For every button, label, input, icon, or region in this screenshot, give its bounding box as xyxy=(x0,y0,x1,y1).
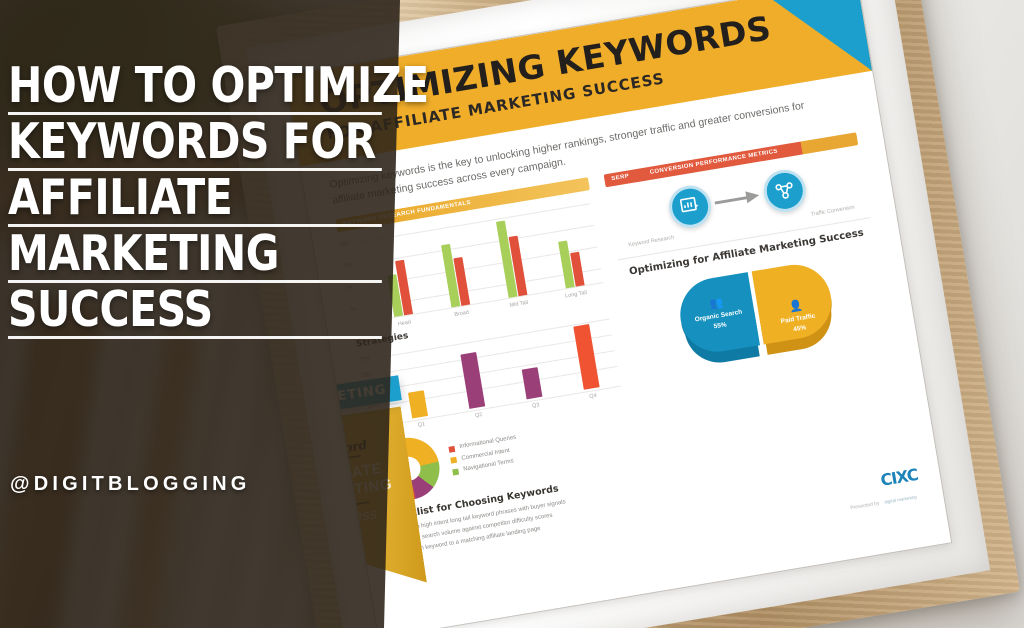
chart-presentation-icon xyxy=(666,182,714,230)
pie-right-value: 45% xyxy=(793,324,807,333)
headline-line-3: AFFILIATE xyxy=(8,174,382,227)
brand-tagline: digital marketing xyxy=(884,494,917,504)
bar-group: Broad xyxy=(438,225,470,307)
x-tick-label: Broad xyxy=(454,309,469,317)
legend-swatch xyxy=(448,446,455,453)
headline-line-1: HOW TO OPTIMIZE xyxy=(8,62,382,115)
x-tick-label: Mid Tail xyxy=(509,299,528,308)
donut-legend: Informational Queries Commercial Intent … xyxy=(448,433,521,478)
bar-q2 xyxy=(460,352,485,408)
headline-line-5: SUCCESS xyxy=(8,286,382,339)
social-media-graphic: OPTIMIZING KEYWORDS FOR AFFILIATE MARKET… xyxy=(0,0,1024,628)
bar-group: Q2 xyxy=(458,341,485,409)
social-handle: @DIGITBLOGGING xyxy=(10,473,251,496)
x-tick-label: Q1 xyxy=(417,421,425,428)
bar-q1 xyxy=(408,391,428,418)
flow-arrow-icon xyxy=(713,187,761,210)
bar-group: Q1 xyxy=(401,350,428,418)
bar-group: Mid Tail xyxy=(495,215,527,297)
bar-q3 xyxy=(522,368,543,399)
legend-swatch xyxy=(450,457,457,464)
x-tick-label: Q3 xyxy=(532,402,540,409)
x-tick-label: Q2 xyxy=(474,411,482,418)
pie-graphic: 👥 Organic Search 55% 👤 Paid Traffic 45% xyxy=(674,253,844,400)
legend-swatch xyxy=(452,468,459,475)
x-tick-label: Q4 xyxy=(589,392,597,399)
pie-left-value: 55% xyxy=(713,321,727,330)
headline-block: HOW TO OPTIMIZE KEYWORDS FOR AFFILIATE M… xyxy=(8,62,438,342)
bar-q4 xyxy=(573,324,599,389)
red-band-left-label: SERP xyxy=(604,173,630,183)
headline-line-4: MARKETING xyxy=(8,230,382,283)
network-share-icon xyxy=(761,166,809,214)
bar-group: Long Tail xyxy=(552,206,584,288)
brand-prefix: Presented by xyxy=(850,501,881,515)
pie-label-right: 👤 Paid Traffic 45% xyxy=(767,294,828,339)
poster-right-column: SERP CONVERSION PERFORMANCE METRICS xyxy=(604,132,904,459)
bar-group: Q3 xyxy=(516,331,543,399)
headline-line-2: KEYWORDS FOR xyxy=(8,118,382,171)
x-tick-label: Long Tail xyxy=(565,289,588,299)
bar-group: Q4 xyxy=(573,322,600,390)
